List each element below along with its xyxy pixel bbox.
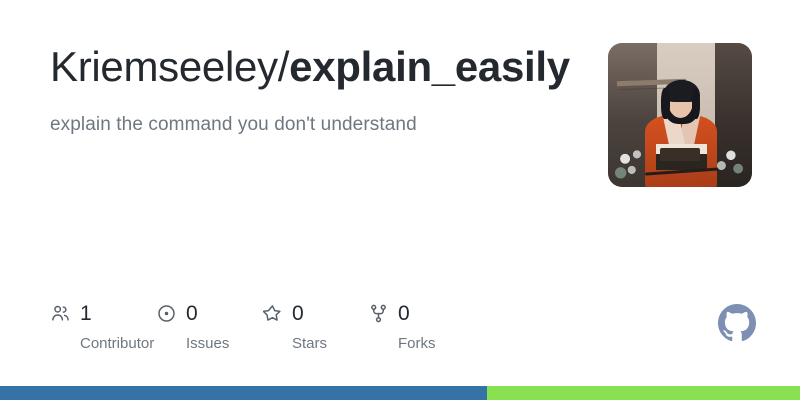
avatar-book — [660, 148, 700, 161]
stat-stars: 0 Stars — [262, 300, 368, 353]
issue-opened-icon — [156, 303, 177, 324]
stat-forks-value: 0 — [398, 303, 410, 324]
stat-stars-label: Stars — [262, 326, 368, 353]
avatar-flowers-left — [614, 144, 651, 181]
star-icon — [262, 303, 283, 324]
avatar-hair-right — [692, 88, 701, 120]
avatar — [608, 43, 752, 187]
language-bar-segment — [0, 386, 487, 400]
repo-name: explain_easily — [289, 43, 570, 90]
stat-issues-value: 0 — [186, 303, 198, 324]
avatar-artwork — [608, 43, 752, 187]
stat-contributors-row: 1 — [50, 300, 156, 326]
stat-issues-label: Issues — [156, 326, 262, 353]
stat-issues: 0 Issues — [156, 300, 262, 353]
repo-social-card: Kriemseeley/explain_easily explain the c… — [0, 0, 800, 400]
avatar-flowers-right — [710, 142, 747, 179]
github-mark-icon — [718, 304, 756, 342]
stat-contributors: 1 Contributor — [50, 300, 156, 353]
repo-owner: Kriemseeley — [50, 43, 278, 90]
language-bar — [0, 386, 800, 400]
avatar-hair-left — [661, 88, 670, 120]
stat-issues-row: 0 — [156, 300, 262, 326]
people-icon — [50, 303, 71, 324]
fork-icon — [368, 303, 389, 324]
stat-stars-row: 0 — [262, 300, 368, 326]
stat-forks: 0 Forks — [368, 300, 474, 353]
stat-stars-value: 0 — [292, 303, 304, 324]
language-bar-segment — [487, 386, 800, 400]
stat-contributors-value: 1 — [80, 303, 92, 324]
stat-forks-row: 0 — [368, 300, 474, 326]
repo-title-separator: / — [278, 43, 289, 90]
stat-contributors-label: Contributor — [50, 326, 156, 353]
repo-stats: 1 Contributor 0 Issues — [50, 300, 474, 353]
stat-forks-label: Forks — [368, 326, 474, 353]
